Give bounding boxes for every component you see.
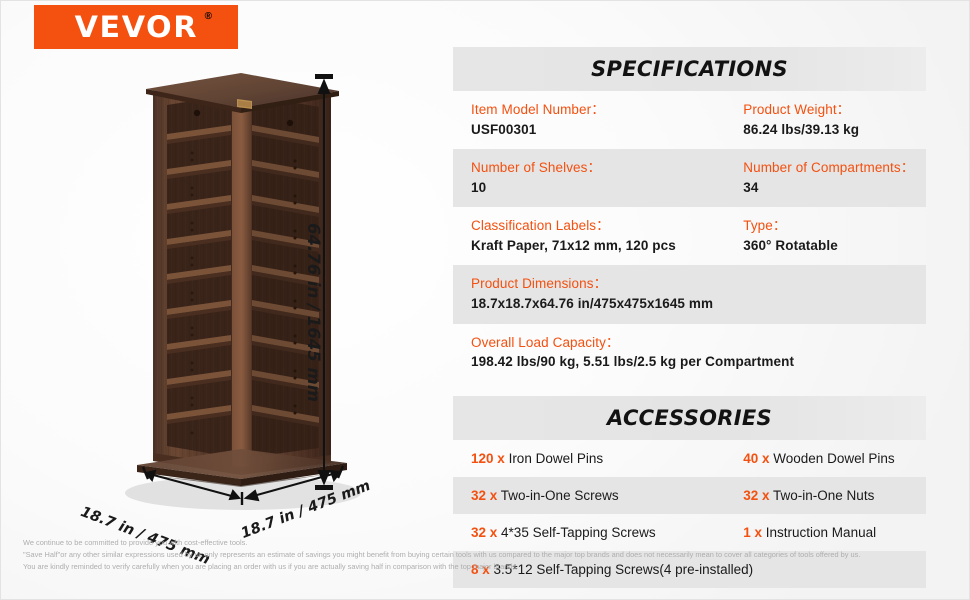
spec-value: Kraft Paper, 71x12 mm, 120 pcs — [471, 236, 743, 256]
dimension-height-label: 64.76 in / 1645 mm — [304, 223, 323, 402]
accessory-row: 32 x Two-in-One Screws 32 x Two-in-One N… — [453, 477, 926, 514]
accessory-two-in-one-screws: 32 x Two-in-One Screws — [471, 488, 743, 503]
spec-value: 10 — [471, 178, 743, 198]
accessory-quantity: 120 x — [471, 451, 505, 466]
accessory-quantity: 32 x — [471, 488, 497, 503]
accessory-quantity: 32 x — [743, 488, 769, 503]
spec-value: USF00301 — [471, 120, 743, 140]
vevor-logo: VEVOR ® — [34, 5, 238, 49]
spec-cell-number-of-shelves: Number of Shelves： 10 — [471, 158, 743, 197]
spec-row: Classification Labels： Kraft Paper, 71x1… — [453, 207, 926, 265]
specifications-header: SPECIFICATIONS — [453, 47, 926, 91]
accessory-row: 120 x Iron Dowel Pins 40 x Wooden Dowel … — [453, 440, 926, 477]
spec-key: Type： — [743, 216, 926, 236]
spec-key: Classification Labels： — [471, 216, 743, 236]
disclaimer-line-2: "Save Half"or any other similar expressi… — [23, 549, 949, 561]
spec-row: Number of Shelves： 10 Number of Compartm… — [453, 149, 926, 207]
spec-cell-product-weight: Product Weight： 86.24 lbs/39.13 kg — [743, 100, 926, 139]
accessory-quantity: 40 x — [743, 451, 769, 466]
spec-cell-number-of-compartments: Number of Compartments： 34 — [743, 158, 926, 197]
product-image: 64.76 in / 1645 mm 18.7 in / 475 mm 18.7… — [91, 61, 391, 531]
info-panel: SPECIFICATIONS Item Model Number： USF003… — [453, 47, 926, 588]
registered-trademark-icon: ® — [205, 11, 212, 22]
accessories-header: ACCESSORIES — [453, 396, 926, 440]
accessory-name: Wooden Dowel Pins — [773, 451, 894, 466]
spec-key: Item Model Number： — [471, 100, 743, 120]
accessory-two-in-one-nuts: 32 x Two-in-One Nuts — [743, 488, 926, 503]
disclaimer-line-1: We continue to be committed to provide y… — [23, 537, 949, 549]
accessory-name: Two-in-One Screws — [501, 488, 619, 503]
spec-key: Number of Shelves： — [471, 158, 743, 178]
bookshelf-illustration — [91, 61, 391, 531]
disclaimer-line-3: You are kindly reminded to verify carefu… — [23, 561, 949, 573]
spec-cell-overall-load-capacity: Overall Load Capacity： 198.42 lbs/90 kg,… — [471, 333, 926, 372]
accessory-name: Iron Dowel Pins — [509, 451, 604, 466]
product-spec-page: VEVOR ® — [0, 0, 970, 600]
spec-row: Product Dimensions： 18.7x18.7x64.76 in/4… — [453, 265, 926, 323]
spec-value: 86.24 lbs/39.13 kg — [743, 120, 926, 140]
spec-row: Item Model Number： USF00301 Product Weig… — [453, 91, 926, 149]
disclaimer: We continue to be committed to provide y… — [23, 537, 949, 573]
accessory-wooden-dowel-pins: 40 x Wooden Dowel Pins — [743, 451, 926, 466]
spec-value: 360° Rotatable — [743, 236, 926, 256]
brand-wordmark: VEVOR — [74, 10, 197, 44]
spec-key: Overall Load Capacity： — [471, 333, 926, 353]
spec-key: Product Weight： — [743, 100, 926, 120]
spec-cell-item-model-number: Item Model Number： USF00301 — [471, 100, 743, 139]
spec-cell-product-dimensions: Product Dimensions： 18.7x18.7x64.76 in/4… — [471, 274, 926, 313]
accessory-iron-dowel-pins: 120 x Iron Dowel Pins — [471, 451, 743, 466]
spec-value: 34 — [743, 178, 926, 198]
spec-value: 198.42 lbs/90 kg, 5.51 lbs/2.5 kg per Co… — [471, 352, 926, 372]
spec-row: Overall Load Capacity： 198.42 lbs/90 kg,… — [453, 324, 926, 382]
spec-value: 18.7x18.7x64.76 in/475x475x1645 mm — [471, 294, 926, 314]
spec-key: Number of Compartments： — [743, 158, 926, 178]
accessory-name: Two-in-One Nuts — [773, 488, 874, 503]
spec-key: Product Dimensions： — [471, 274, 926, 294]
spec-cell-type: Type： 360° Rotatable — [743, 216, 926, 255]
spec-cell-classification-labels: Classification Labels： Kraft Paper, 71x1… — [471, 216, 743, 255]
